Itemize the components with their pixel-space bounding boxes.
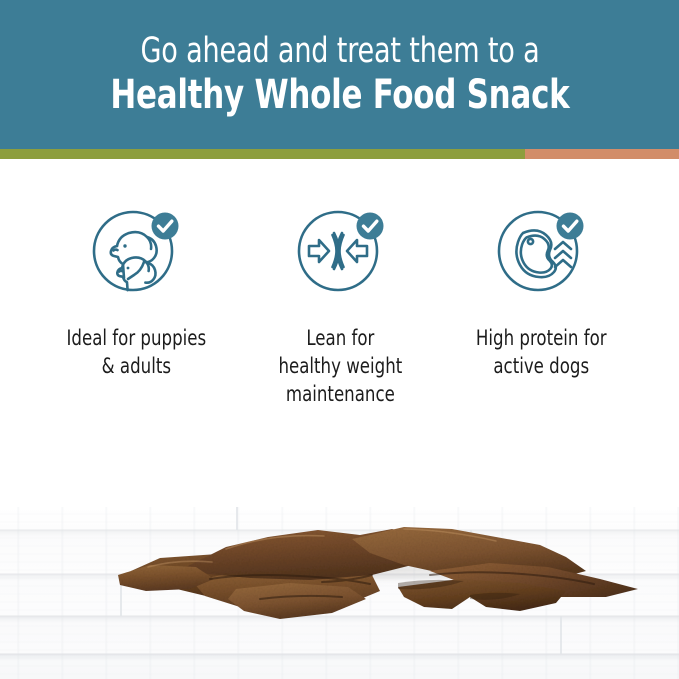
headline-line-2: Healthy Whole Food Snack bbox=[110, 72, 569, 118]
header-banner: Go ahead and treat them to a Healthy Who… bbox=[0, 0, 679, 149]
lean-weight-arrows-check-icon bbox=[295, 205, 387, 297]
check-badge bbox=[152, 213, 179, 240]
divider-salmon-segment bbox=[525, 149, 679, 159]
color-divider-bar bbox=[0, 149, 679, 159]
divider-olive-segment bbox=[0, 149, 525, 159]
promo-infographic-page: Go ahead and treat them to a Healthy Who… bbox=[0, 0, 679, 679]
feature-item-high-protein-for-active-dogs: High protein for active dogs bbox=[441, 159, 641, 381]
feature-label: High protein for active dogs bbox=[476, 325, 607, 381]
feature-list: Ideal for puppies & adults bbox=[0, 159, 679, 479]
feature-item-ideal-for-puppies-and-adults: Ideal for puppies & adults bbox=[36, 159, 236, 381]
feature-item-lean-healthy-weight-maintenance: Lean for healthy weight maintenance bbox=[241, 159, 441, 409]
headline-line-1: Go ahead and treat them to a bbox=[140, 31, 539, 72]
protein-steak-check-icon bbox=[495, 205, 587, 297]
check-badge bbox=[557, 213, 584, 240]
check-badge bbox=[356, 213, 383, 240]
jerky-strips-illustration bbox=[0, 479, 679, 679]
product-photo bbox=[0, 479, 679, 679]
feature-label: Lean for healthy weight maintenance bbox=[279, 325, 403, 409]
jerky-strip bbox=[228, 583, 366, 619]
feature-label: Ideal for puppies & adults bbox=[66, 325, 206, 381]
two-dogs-check-icon bbox=[90, 205, 182, 297]
